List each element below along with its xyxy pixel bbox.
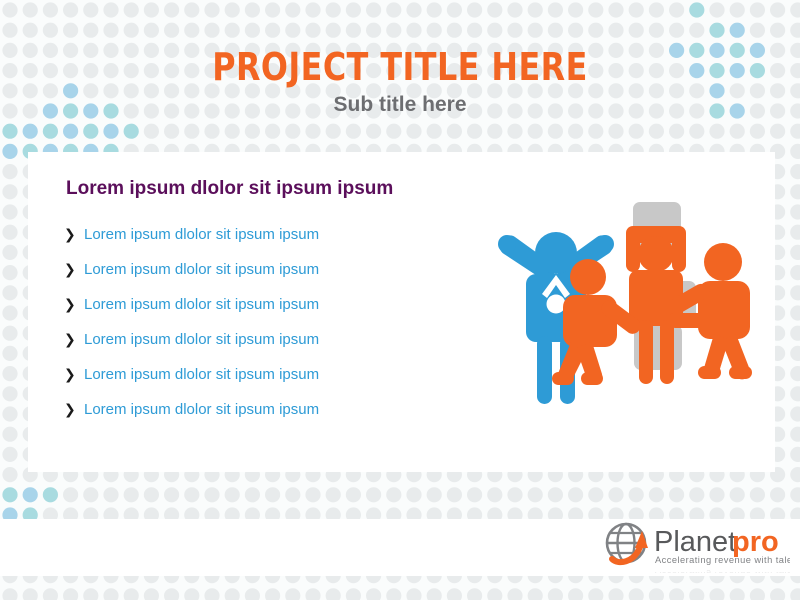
bullet-list: ❯Lorem ipsum dlolor sit ipsum ipsum❯Lore… — [64, 226, 444, 436]
slide-canvas: PROJECT TITLE HERE Sub title here Lorem … — [0, 0, 800, 600]
list-item-label: Lorem ipsum dlolor sit ipsum ipsum — [84, 331, 319, 348]
body-heading: Lorem ipsum dlolor sit ipsum ipsum — [66, 178, 393, 200]
list-item[interactable]: ❯Lorem ipsum dlolor sit ipsum ipsum — [64, 296, 444, 331]
chevron-right-icon: ❯ — [64, 262, 84, 278]
teamwork-achievement-illustration — [440, 196, 770, 431]
list-item-label: Lorem ipsum dlolor sit ipsum ipsum — [84, 296, 319, 313]
chevron-right-icon: ❯ — [64, 227, 84, 243]
chevron-right-icon: ❯ — [64, 297, 84, 313]
logo-tagline-reflection: Accelerating revenue with talent — [655, 570, 790, 573]
list-item-label: Lorem ipsum dlolor sit ipsum ipsum — [84, 401, 319, 418]
list-item[interactable]: ❯Lorem ipsum dlolor sit ipsum ipsum — [64, 331, 444, 366]
globe-arrow-icon — [607, 524, 648, 562]
logo-tagline: Accelerating revenue with talent — [655, 555, 790, 565]
logo-brand-first: Planet — [654, 526, 736, 558]
list-item-label: Lorem ipsum dlolor sit ipsum ipsum — [84, 226, 319, 243]
list-item[interactable]: ❯Lorem ipsum dlolor sit ipsum ipsum — [64, 366, 444, 401]
logo-brand-second: pro — [732, 526, 779, 558]
list-item[interactable]: ❯Lorem ipsum dlolor sit ipsum ipsum — [64, 401, 444, 436]
page-title: PROJECT TITLE HERE — [28, 46, 772, 88]
page-subtitle: Sub title here — [0, 92, 800, 118]
chevron-right-icon: ❯ — [64, 332, 84, 348]
list-item[interactable]: ❯Lorem ipsum dlolor sit ipsum ipsum — [64, 226, 444, 261]
chevron-right-icon: ❯ — [64, 367, 84, 383]
list-item[interactable]: ❯Lorem ipsum dlolor sit ipsum ipsum — [64, 261, 444, 296]
header: PROJECT TITLE HERE Sub title here — [0, 46, 800, 118]
planetpro-logo: Planet pro Accelerating revenue with tal… — [604, 521, 790, 573]
chevron-right-icon: ❯ — [64, 402, 84, 418]
list-item-label: Lorem ipsum dlolor sit ipsum ipsum — [84, 366, 319, 383]
list-item-label: Lorem ipsum dlolor sit ipsum ipsum — [84, 261, 319, 278]
